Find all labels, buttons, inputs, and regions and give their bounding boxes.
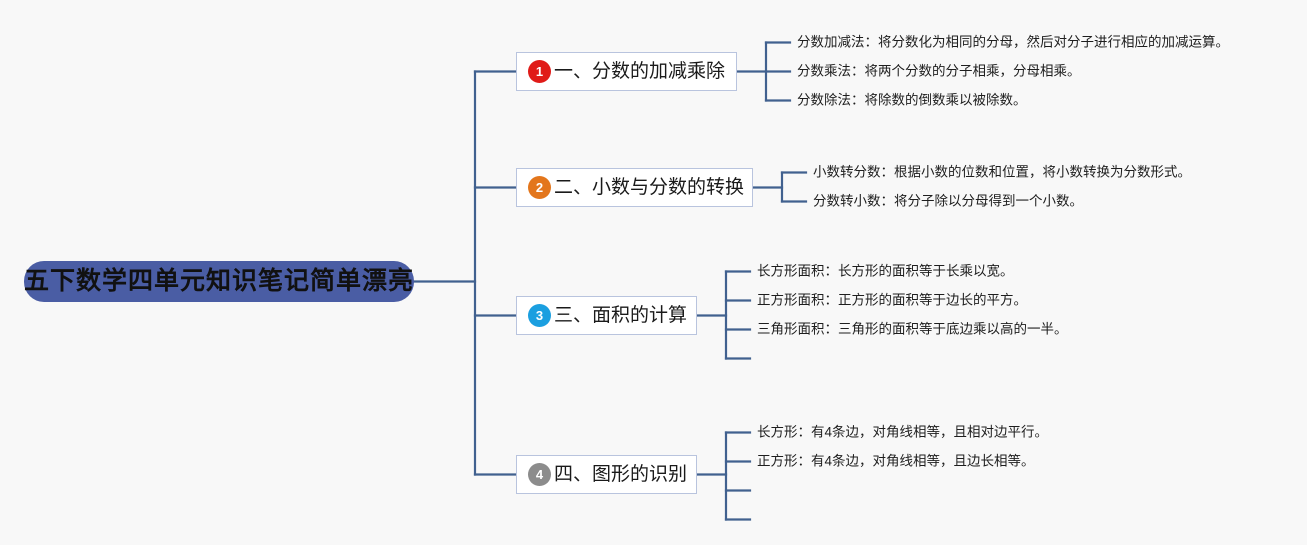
root-node-label: 五下数学四单元知识笔记简单漂亮 xyxy=(24,269,414,294)
branch-4-number-badge: 4 xyxy=(528,463,551,486)
branch-1-leaf-1: 分数加减法：将分数化为相同的分母，然后对分子进行相应的加减运算。 xyxy=(797,35,1229,49)
branch-3-leaf-3: 三角形面积：三角形的面积等于底边乘以高的一半。 xyxy=(757,322,1068,336)
branch-node-4[interactable]: 4 四、图形的识别 xyxy=(516,455,697,494)
branch-2-leaf-2: 分数转小数：将分子除以分母得到一个小数。 xyxy=(813,194,1083,208)
branch-2-number-badge: 2 xyxy=(528,176,551,199)
branch-1-leaf-3: 分数除法：将除数的倒数乘以被除数。 xyxy=(797,93,1027,107)
branch-1-label: 一、分数的加减乘除 xyxy=(552,62,725,81)
branch-4-label: 四、图形的识别 xyxy=(552,465,687,484)
branch-2-leaf-1: 小数转分数：根据小数的位数和位置，将小数转换为分数形式。 xyxy=(813,165,1191,179)
branch-2-label: 二、小数与分数的转换 xyxy=(552,178,744,197)
mindmap-canvas: 五下数学四单元知识笔记简单漂亮 1 一、分数的加减乘除 分数加减法：将分数化为相… xyxy=(0,0,1307,545)
branch-3-label: 三、面积的计算 xyxy=(552,306,687,325)
branch-1-leaf-2: 分数乘法：将两个分数的分子相乘，分母相乘。 xyxy=(797,64,1081,78)
root-node[interactable]: 五下数学四单元知识笔记简单漂亮 xyxy=(24,261,414,302)
branch-4-leaf-2: 正方形：有4条边，对角线相等，且边长相等。 xyxy=(757,454,1035,468)
branch-3-leaf-2: 正方形面积：正方形的面积等于边长的平方。 xyxy=(757,293,1027,307)
branch-4-leaf-1: 长方形：有4条边，对角线相等，且相对边平行。 xyxy=(757,425,1048,439)
branch-3-number-badge: 3 xyxy=(528,304,551,327)
branch-1-number-badge: 1 xyxy=(528,60,551,83)
branch-3-leaf-1: 长方形面积：长方形的面积等于长乘以宽。 xyxy=(757,264,1014,278)
branch-node-1[interactable]: 1 一、分数的加减乘除 xyxy=(516,52,737,91)
branch-node-2[interactable]: 2 二、小数与分数的转换 xyxy=(516,168,753,207)
branch-node-3[interactable]: 3 三、面积的计算 xyxy=(516,296,697,335)
